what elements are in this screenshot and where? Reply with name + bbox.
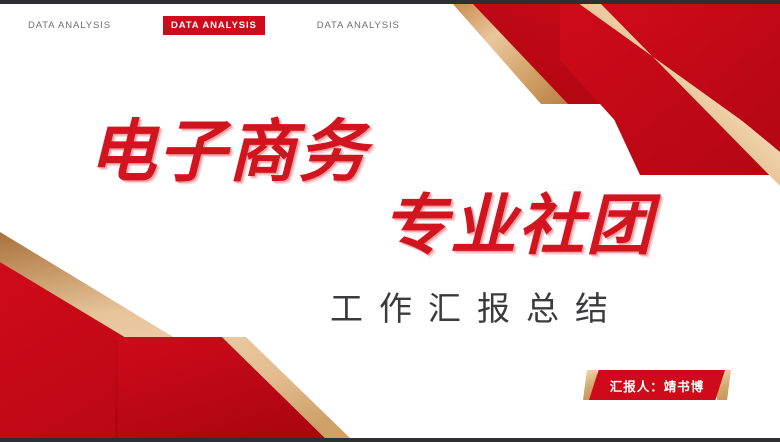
- deco-top-right-gold-stripe-left: [452, 3, 568, 104]
- slide-subtitle: 工作汇报总结: [330, 282, 624, 330]
- title-line-1: 电子商务: [88, 96, 368, 195]
- deco-bottom-wide-red-slab: [228, 338, 570, 438]
- title-line-2: 专业社团: [382, 172, 654, 268]
- frame-edge-bottom: [0, 438, 780, 442]
- deco-bottom-left-slab-extension: [118, 337, 325, 438]
- deco-bottom-left-gold-stripe-right: [222, 338, 340, 438]
- presentation-slide: DATA ANALYSIS DATA ANALYSIS DATA ANALYSI…: [0, 0, 780, 442]
- presenter-badge-plate: 汇报人：靖书博: [589, 370, 725, 400]
- deco-bottom-left-slab: [168, 338, 520, 438]
- nav-item-data-analysis-3[interactable]: DATA ANALYSIS: [311, 16, 406, 35]
- deco-bottom-left-long-slab: [118, 337, 560, 438]
- top-nav: DATA ANALYSIS DATA ANALYSIS DATA ANALYSI…: [22, 16, 406, 35]
- deco-bottom-left-band-lower: [115, 338, 300, 438]
- deco-bottom-left-wide-slab: [196, 338, 612, 438]
- deco-bottom-left-band-foreground: [115, 338, 300, 438]
- presenter-badge: 汇报人：靖书博: [583, 370, 731, 400]
- deco-bottom-left-band-main: [0, 262, 300, 438]
- frame-edge-top: [0, 0, 780, 4]
- deco-top-right-gold-stripe-wide: [578, 3, 780, 186]
- nav-item-data-analysis-2[interactable]: DATA ANALYSIS: [163, 16, 265, 35]
- deco-top-right-band-main: [560, 3, 780, 175]
- presenter-badge-label: 汇报人：靖书博: [610, 376, 705, 395]
- deco-top-right-band-outer: [600, 3, 780, 152]
- deco-bottom-trailing-gold: [470, 338, 596, 438]
- deco-top-right-band-lower: [470, 3, 780, 104]
- deco-bottom-left-slab-gold-edge: [222, 337, 350, 438]
- deco-bottom-left-gold-stripe-wide: [0, 232, 340, 438]
- nav-item-data-analysis-1[interactable]: DATA ANALYSIS: [22, 16, 117, 35]
- deco-bottom-left-final-slab: [246, 337, 555, 438]
- deco-bottom-left-slab-front: [0, 337, 315, 438]
